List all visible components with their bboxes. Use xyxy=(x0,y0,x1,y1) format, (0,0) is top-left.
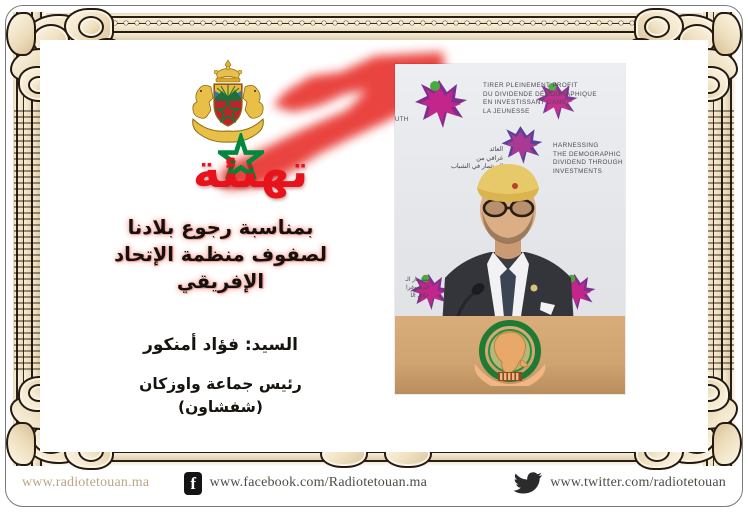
person-name: السيد: فؤاد أمنكور xyxy=(48,335,393,355)
splash-logo-icon xyxy=(413,78,469,130)
person-role-line-1: رئيس جماعة واوزكان xyxy=(48,373,393,396)
backdrop-french-line-3: EN INVESTISSANT DANS xyxy=(483,99,597,108)
headline-line-3: الإفريقي xyxy=(48,269,393,296)
backdrop-french-text: TIRER PLEINEMENT PROFIT DU DIVIDENDE DÉM… xyxy=(483,82,597,116)
event-photo: UTH TIRER PLEINEMENT PROFIT DU DIVIDENDE… xyxy=(395,64,625,394)
backdrop-french-line-1: TIRER PLEINEMENT PROFIT xyxy=(483,82,597,91)
backdrop-english-edge: UTH xyxy=(395,116,409,124)
backdrop-french-line-2: DU DIVIDENDE DÉMOGRAPHIQUE xyxy=(483,91,597,100)
frame-top-beading xyxy=(110,19,638,28)
twitter-bird-icon[interactable] xyxy=(513,472,543,495)
backdrop-arabic-left-line-2: الديموغرا xyxy=(395,284,429,292)
person-block: السيد: فؤاد أمنكور رئيس جماعة واوزكان (ش… xyxy=(48,335,393,420)
certificate-card: تهنئة بمناسبة رجوع بلادنا لصفوف منظمة ال… xyxy=(0,0,748,512)
headline-line-2: لصفوف منظمة الإتحاد xyxy=(48,242,393,269)
african-union-logo xyxy=(471,320,549,386)
backdrop-arabic-left-line-3: خلال الأ xyxy=(395,292,429,300)
certificate-body: تهنئة بمناسبة رجوع بلادنا لصفوف منظمة ال… xyxy=(40,40,708,452)
facebook-url[interactable]: www.facebook.com/Radiotetouan.ma xyxy=(210,475,427,491)
website-url[interactable]: www.radiotetouan.ma xyxy=(22,475,149,491)
backdrop-arabic-left-line-1: ستثمار الـ xyxy=(395,276,429,284)
headline-line-1: بمناسبة رجوع بلادنا xyxy=(48,215,393,242)
backdrop-french-line-4: LA JEUNESSE xyxy=(483,108,597,117)
backdrop-arabic-left-text: ستثمار الـ الديموغرا خلال الأ xyxy=(395,276,429,300)
facebook-icon[interactable]: f xyxy=(184,472,202,495)
backdrop-english-line-1: HARNESSING xyxy=(553,142,623,151)
tahnia-headline: تهنئة xyxy=(168,148,333,195)
twitter-url[interactable]: www.twitter.com/radiotetouan xyxy=(550,475,726,491)
morocco-coat-of-arms-emblem xyxy=(183,57,273,145)
main-headline: بمناسبة رجوع بلادنا لصفوف منظمة الإتحاد … xyxy=(48,215,393,296)
frame-right-fluting xyxy=(704,110,734,372)
podium xyxy=(395,316,625,394)
footer-bar: www.radiotetouan.ma f www.facebook.com/R… xyxy=(22,466,726,500)
person-role-line-2: (شفشاون) xyxy=(48,396,393,419)
